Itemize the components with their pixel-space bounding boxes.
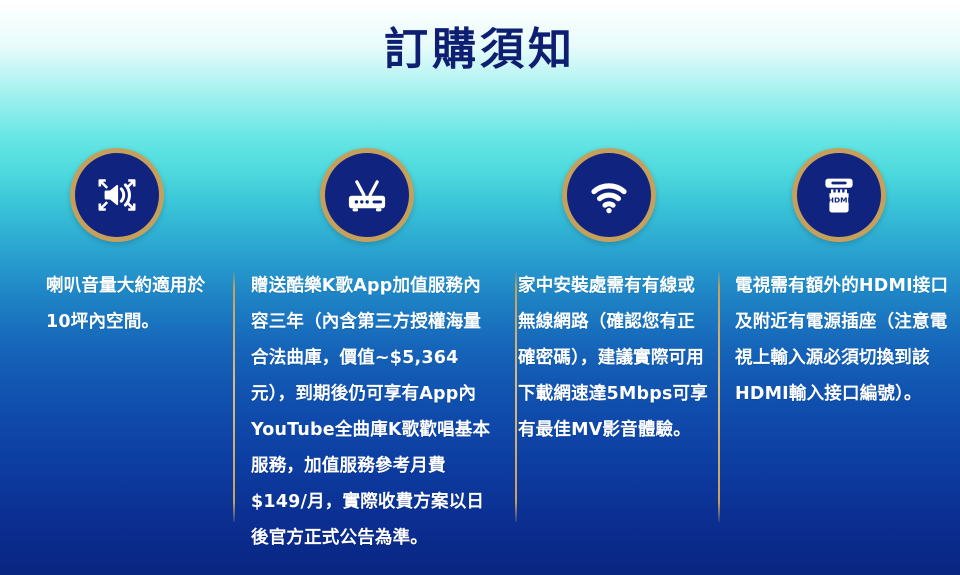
wifi-icon-badge — [562, 148, 656, 242]
column-divider-2 — [515, 272, 517, 522]
notice-text-hdmi: 電視需有額外的HDMI接口及附近有電源插座（注意電視上輸入源必須切換到該HDMI… — [717, 268, 960, 412]
page-header: 訂購須知 — [0, 0, 960, 77]
notice-text-app: 贈送酷樂K歌App加值服務內容三年（內含第三方授權海量合法曲庫，價值~$5,36… — [233, 268, 500, 556]
column-divider-1 — [233, 272, 235, 522]
page-title: 訂購須知 — [0, 24, 960, 77]
notice-text-speaker: 喇叭音量大約適用於10坪內空間。 — [0, 268, 233, 340]
notice-column-speaker: 喇叭音量大約適用於10坪內空間。 — [0, 140, 233, 340]
speaker-volume-expand-icon — [89, 167, 145, 223]
router-modem-icon — [339, 167, 395, 223]
wifi-icon — [581, 167, 637, 223]
notice-columns: 喇叭音量大約適用於10坪內空間。 — [0, 140, 960, 540]
notice-text-network: 家中安裝處需有有線或無線網路（確認您有正確密碼），建議實際可用下載網速達5Mbp… — [500, 268, 717, 448]
hdmi-connector-icon: HDMI — [811, 167, 867, 223]
hdmi-icon-label: HDMI — [827, 195, 850, 204]
router-modem-icon-badge — [320, 148, 414, 242]
notice-column-app: 贈送酷樂K歌App加值服務內容三年（內含第三方授權海量合法曲庫，價值~$5,36… — [233, 140, 500, 556]
hdmi-connector-icon-badge: HDMI — [792, 148, 886, 242]
speaker-volume-expand-icon-badge — [70, 148, 164, 242]
notice-column-network: 家中安裝處需有有線或無線網路（確認您有正確密碼），建議實際可用下載網速達5Mbp… — [500, 140, 717, 448]
notice-column-hdmi: HDMI 電視需有額外的HDMI接口及附近有電源插座（注意電視上輸入源必須切換到… — [717, 140, 960, 412]
column-divider-3 — [718, 272, 720, 522]
